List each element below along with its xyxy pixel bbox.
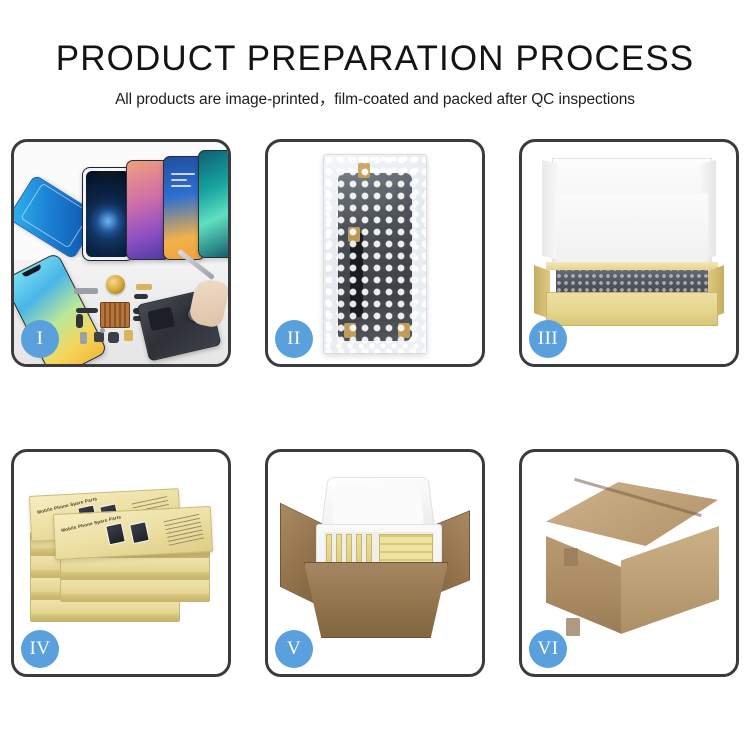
part-screw-set	[100, 328, 105, 333]
product-preparation-infographic: PRODUCT PREPARATION PROCESS All products…	[0, 0, 750, 750]
part-flex-cable	[76, 314, 83, 328]
process-step-3[interactable]: III Yellow kraft box opened showing bubb…	[519, 139, 739, 367]
carton-body	[304, 562, 448, 638]
box-front-panel	[546, 292, 718, 326]
step-badge-4: IV	[21, 630, 59, 668]
step-badge-5: V	[275, 630, 313, 668]
page-subtitle: All products are image-printed，film-coat…	[0, 87, 750, 109]
phone-teal-wave-icon	[198, 150, 228, 258]
stack-box-rear	[60, 556, 210, 580]
carton-label-lower	[566, 618, 580, 636]
box-window-left	[105, 522, 126, 545]
foam-sheet-icon	[556, 194, 708, 266]
carton-label-upper	[564, 548, 578, 566]
part-battery-connector	[124, 330, 133, 341]
vibration-motor-icon	[106, 275, 125, 294]
stack-box-front-second: Mobile Phone Spare Parts	[53, 506, 213, 560]
step-badge-1: I	[21, 320, 59, 358]
process-step-2[interactable]: II Single LCD screen assembly sealed in …	[265, 139, 485, 367]
process-step-4[interactable]: Mobile Phone Spare Parts Mobile Phone Sp…	[11, 449, 231, 677]
step-badge-6: VI	[529, 630, 567, 668]
part-camera-module	[108, 332, 119, 343]
bubble-wrap-bag-icon	[323, 154, 427, 354]
connector-tape-left	[344, 323, 356, 338]
part-strip	[74, 288, 98, 294]
page-title: PRODUCT PREPARATION PROCESS	[0, 38, 750, 80]
part-small-bracket	[80, 332, 87, 344]
box-window-right	[129, 521, 150, 544]
step-badge-2: II	[275, 320, 313, 358]
connector-tape-mid	[348, 227, 360, 242]
stack-box-rear	[60, 578, 210, 602]
process-step-6[interactable]: VI Sealed brown corrugated shipping cart…	[519, 449, 739, 677]
box-rim	[546, 262, 718, 270]
connector-tape-right	[398, 323, 410, 338]
part-speaker	[94, 332, 104, 342]
process-step-5[interactable]: V Outer carton opened containing a white…	[265, 449, 485, 677]
chip-grid-icon	[100, 302, 130, 328]
bubble-wrapped-contents	[556, 266, 708, 294]
display-flex-cable-icon	[350, 233, 363, 317]
step-badge-3: III	[529, 320, 567, 358]
connector-tape-top	[358, 163, 370, 178]
process-step-grid: I Assorted mobile phone LCD screens, dis…	[11, 139, 739, 677]
part-flex-cable	[76, 308, 98, 313]
box-spec-text	[164, 513, 205, 546]
part-connector	[136, 284, 152, 290]
part-flex-cable	[134, 294, 148, 299]
carton-left-face	[546, 536, 622, 634]
header: PRODUCT PREPARATION PROCESS All products…	[0, 38, 750, 109]
process-step-1[interactable]: I Assorted mobile phone LCD screens, dis…	[11, 139, 231, 367]
